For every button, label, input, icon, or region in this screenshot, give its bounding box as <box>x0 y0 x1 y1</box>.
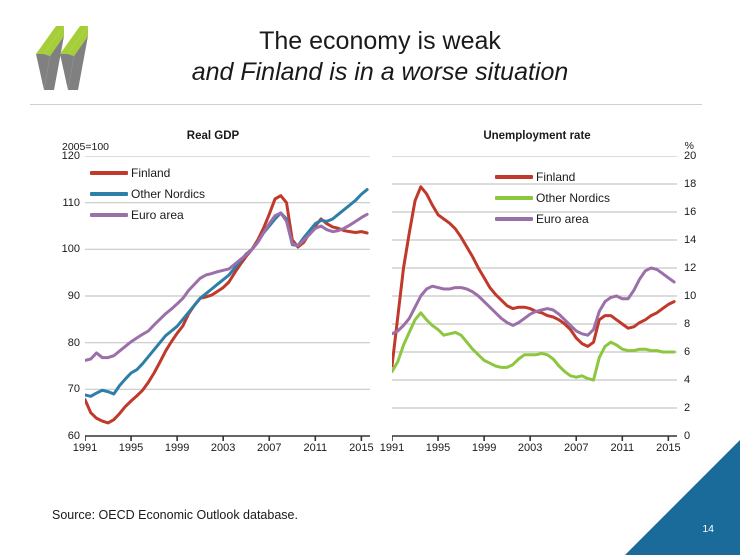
title-divider <box>30 104 702 105</box>
legend-unemployment-rate: Finland Other Nordics Euro area <box>495 166 610 229</box>
logo <box>30 22 94 94</box>
y-axis-tick-label: 100 <box>62 244 80 255</box>
y-axis-tick-label: 120 <box>62 151 80 162</box>
y-axis-tick-label: 90 <box>68 291 80 302</box>
legend-swatch-finland-unemployment <box>495 175 533 179</box>
legend-swatch-finland <box>90 171 128 175</box>
legend-label-euro-area-unemployment: Euro area <box>536 212 589 226</box>
y-axis-tick-label: 0 <box>684 431 690 442</box>
x-axis-tick-label: 2007 <box>257 442 281 454</box>
legend-item-other-nordics: Other Nordics <box>90 183 205 204</box>
y-axis-tick-label: 10 <box>684 291 696 302</box>
source-note: Source: OECD Economic Outlook database. <box>52 508 298 522</box>
x-axis-tick-label: 1991 <box>73 442 97 454</box>
legend-label-euro-area: Euro area <box>131 208 184 222</box>
y-axis-tick-label: 8 <box>684 319 690 330</box>
y-axis-tick-label: 70 <box>68 384 80 395</box>
y-axis-tick-label: 80 <box>68 338 80 349</box>
y-axis-tick-label: 60 <box>68 431 80 442</box>
legend-item-finland: Finland <box>90 162 205 183</box>
y-axis-tick-label: 4 <box>684 375 690 386</box>
x-axis-tick-label: 1991 <box>380 442 404 454</box>
legend-swatch-euro-area <box>90 213 128 217</box>
legend-swatch-euro-area-unemployment <box>495 217 533 221</box>
x-axis-tick-label: 2007 <box>564 442 588 454</box>
page-number: 14 <box>702 523 714 535</box>
y-axis-tick-label: 110 <box>62 198 80 209</box>
x-axis-tick-label: 2015 <box>349 442 373 454</box>
slide-canvas: The economy is weak and Finland is in a … <box>0 0 740 555</box>
slide-title: The economy is weak and Finland is in a … <box>110 26 650 88</box>
legend-real-gdp: Finland Other Nordics Euro area <box>90 162 205 225</box>
y-axis-tick-label: 18 <box>684 179 696 190</box>
x-axis-tick-label: 2003 <box>211 442 235 454</box>
x-axis-tick-label: 2011 <box>610 442 634 454</box>
x-axis-tick-label: 1999 <box>472 442 496 454</box>
series-line-other-nordics <box>392 313 674 380</box>
legend-label-other-nordics-unemployment: Other Nordics <box>536 191 610 205</box>
legend-item-finland-unemployment: Finland <box>495 166 610 187</box>
legend-label-finland-unemployment: Finland <box>536 170 575 184</box>
legend-item-euro-area: Euro area <box>90 204 205 225</box>
title-line-2: and Finland is in a worse situation <box>110 57 650 88</box>
y-axis-tick-label: 6 <box>684 347 690 358</box>
x-axis-tick-label: 1995 <box>426 442 450 454</box>
y-axis-tick-label: 20 <box>684 151 696 162</box>
title-line-1: The economy is weak <box>110 26 650 57</box>
x-axis-tick-label: 1995 <box>119 442 143 454</box>
y-axis-tick-label: 16 <box>684 207 696 218</box>
x-axis-tick-label: 2011 <box>303 442 327 454</box>
y-axis-tick-label: 14 <box>684 235 696 246</box>
chart-title-unemployment-rate: Unemployment rate <box>378 130 696 142</box>
legend-item-euro-area-unemployment: Euro area <box>495 208 610 229</box>
x-axis-tick-label: 2003 <box>518 442 542 454</box>
legend-swatch-other-nordics <box>90 192 128 196</box>
x-axis-tick-label: 1999 <box>165 442 189 454</box>
legend-swatch-other-nordics-unemployment <box>495 196 533 200</box>
y-axis-tick-label: 2 <box>684 403 690 414</box>
legend-label-finland: Finland <box>131 166 170 180</box>
x-axis-tick-label: 2015 <box>656 442 680 454</box>
legend-item-other-nordics-unemployment: Other Nordics <box>495 187 610 208</box>
legend-label-other-nordics: Other Nordics <box>131 187 205 201</box>
y-axis-tick-label: 12 <box>684 263 696 274</box>
